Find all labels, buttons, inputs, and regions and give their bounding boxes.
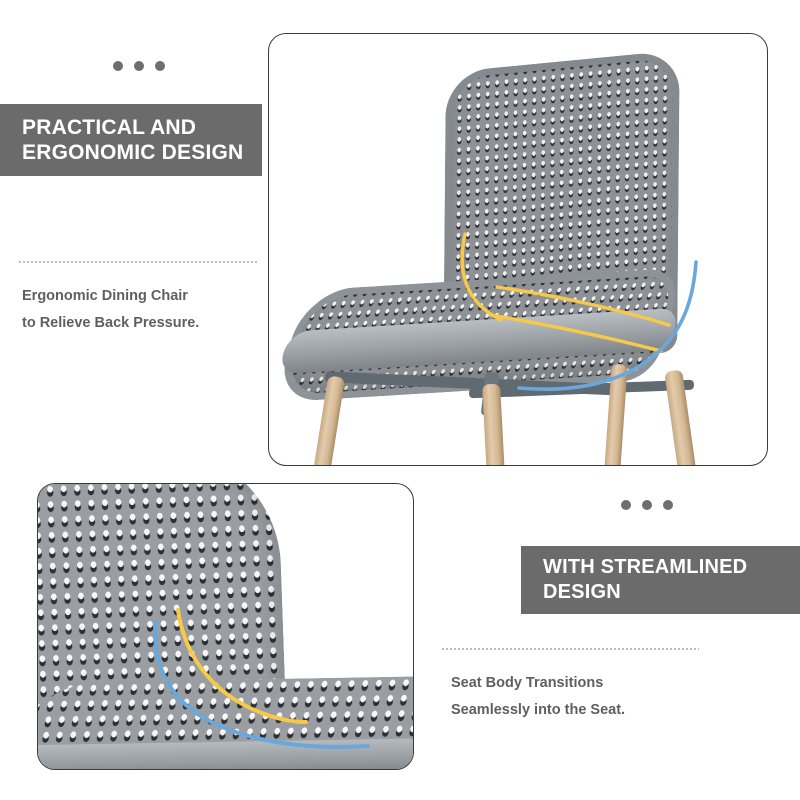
dot-icon — [134, 61, 144, 71]
detail-seat-transition-panel — [37, 483, 414, 770]
heading-banner-practical-ergonomic: PRACTICAL AND ERGONOMIC DESIGN — [0, 104, 262, 176]
seat-transition-scene — [38, 484, 413, 769]
product-feature-sheet: PRACTICAL AND ERGONOMIC DESIGN Ergonomic… — [0, 0, 800, 800]
dot-icon — [621, 500, 631, 510]
main-chair-photo-panel — [268, 33, 768, 466]
heading-line-1: WITH STREAMLINED — [543, 555, 800, 580]
dot-icon — [113, 61, 123, 71]
decorative-dots-bottom — [621, 500, 673, 510]
dot-icon — [155, 61, 165, 71]
body-line-1: Seat Body Transitions — [451, 670, 751, 697]
heading-line-1: PRACTICAL AND — [22, 115, 262, 140]
chair-leg-back-right — [664, 369, 700, 466]
heading-line-2: ERGONOMIC DESIGN — [22, 140, 262, 165]
body-line-2: Seamlessly into the Seat. — [451, 697, 751, 724]
dot-icon — [663, 500, 673, 510]
body-copy-streamlined: Seat Body Transitions Seamlessly into th… — [451, 670, 751, 724]
chair-scene — [269, 34, 767, 465]
body-copy-practical-ergonomic: Ergonomic Dining Chair to Relieve Back P… — [22, 283, 272, 337]
dotted-divider-bottom — [441, 648, 699, 650]
heading-line-2: DESIGN — [543, 580, 800, 605]
dotted-divider-top — [18, 261, 258, 263]
decorative-dots-top — [113, 61, 165, 71]
heading-banner-streamlined: WITH STREAMLINED DESIGN — [521, 546, 800, 614]
body-line-2: to Relieve Back Pressure. — [22, 310, 272, 337]
body-line-1: Ergonomic Dining Chair — [22, 283, 272, 310]
dot-icon — [642, 500, 652, 510]
